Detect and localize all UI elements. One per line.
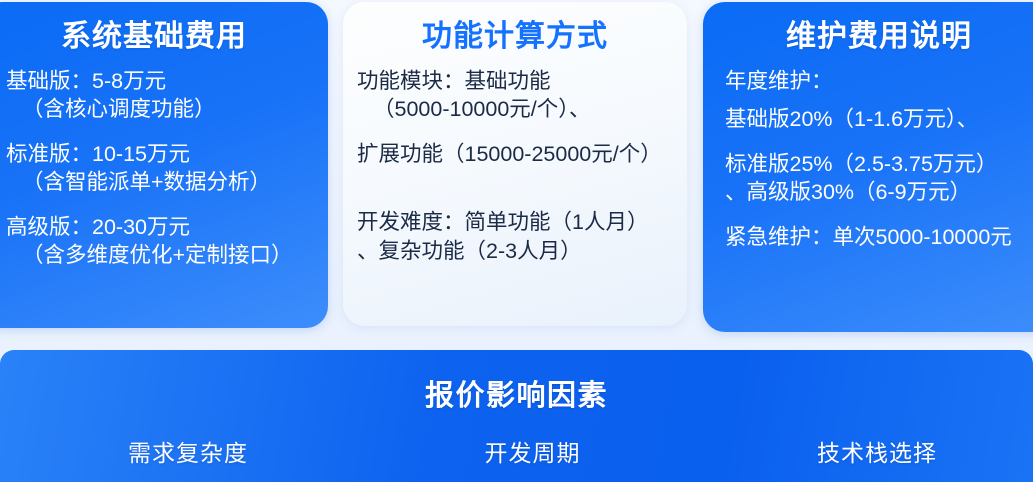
- card-paragraph: 紧急维护：单次5000-10000元: [725, 223, 1033, 251]
- paragraph-continuation: 、高级版30%（6-9万元）: [725, 178, 1033, 206]
- card-paragraph: 标准版25%（2.5-3.75万元） 、高级版30%（6-9万元）: [725, 150, 1033, 207]
- card-body: 年度维护： 基础版20%（1-1.6万元）、 标准版25%（2.5-3.75万元…: [703, 67, 1033, 251]
- card-body: 基础版：5-8万元 （含核心调度功能） 标准版：10-15万元 （含智能派单+数…: [0, 67, 328, 269]
- card-paragraph: 扩展功能（15000-25000元/个）: [357, 140, 681, 168]
- paragraph-lead: 高级版：20-30万元: [6, 215, 190, 239]
- card-paragraph: 年度维护：: [725, 67, 1033, 95]
- paragraph-lead: 标准版25%（2.5-3.75万元）: [725, 152, 997, 176]
- card-title: 维护费用说明: [703, 20, 1033, 53]
- paragraph-lead: 开发难度：简单功能（1人月）: [357, 210, 648, 234]
- factor-item[interactable]: 技术栈选择: [667, 434, 973, 468]
- factor-item[interactable]: 开发周期: [398, 434, 668, 468]
- card-body: 功能模块：基础功能 （5000-10000元/个）、 扩展功能（15000-25…: [343, 67, 687, 265]
- paragraph-continuation: 、复杂功能（2-3人月）: [357, 237, 681, 265]
- paragraph-continuation: （含核心调度功能）: [6, 95, 322, 123]
- paragraph-lead: 基础版：5-8万元: [6, 69, 166, 93]
- factors-list: 需求复杂度 开发周期 技术栈选择: [0, 434, 1033, 468]
- banner-title: 报价影响因素: [0, 372, 1033, 414]
- factor-item[interactable]: 需求复杂度: [60, 434, 398, 468]
- card-maintenance-cost[interactable]: 维护费用说明 年度维护： 基础版20%（1-1.6万元）、 标准版25%（2.5…: [703, 2, 1033, 332]
- paragraph-lead: 标准版：10-15万元: [6, 142, 190, 166]
- card-paragraph: 开发难度：简单功能（1人月） 、复杂功能（2-3人月）: [357, 208, 681, 265]
- card-paragraph: 标准版：10-15万元 （含智能派单+数据分析）: [6, 140, 322, 197]
- card-system-base-cost[interactable]: 系统基础费用 基础版：5-8万元 （含核心调度功能） 标准版：10-15万元 （…: [0, 2, 328, 328]
- card-paragraph: 功能模块：基础功能 （5000-10000元/个）、: [357, 67, 681, 124]
- card-title: 功能计算方式: [343, 20, 687, 53]
- card-function-calculation[interactable]: 功能计算方式 功能模块：基础功能 （5000-10000元/个）、 扩展功能（1…: [343, 2, 687, 326]
- paragraph-continuation: （含智能派单+数据分析）: [6, 168, 322, 196]
- paragraph-lead: 紧急维护：单次5000-10000元: [725, 225, 1012, 249]
- card-paragraph: 高级版：20-30万元 （含多维度优化+定制接口）: [6, 213, 322, 270]
- quote-factors-banner: 报价影响因素 需求复杂度 开发周期 技术栈选择: [0, 350, 1033, 482]
- cards-row: 系统基础费用 基础版：5-8万元 （含核心调度功能） 标准版：10-15万元 （…: [0, 0, 1033, 340]
- card-paragraph: 基础版：5-8万元 （含核心调度功能）: [6, 67, 322, 124]
- paragraph-lead: 功能模块：基础功能: [357, 69, 551, 93]
- paragraph-lead: 基础版20%（1-1.6万元）、: [725, 107, 978, 131]
- paragraph-lead: 扩展功能（15000-25000元/个）: [357, 142, 662, 166]
- paragraph-lead: 年度维护：: [725, 69, 833, 93]
- card-title: 系统基础费用: [0, 20, 328, 53]
- paragraph-continuation: （5000-10000元/个）、: [357, 95, 681, 123]
- card-paragraph: 基础版20%（1-1.6万元）、: [725, 105, 1033, 133]
- paragraph-continuation: （含多维度优化+定制接口）: [6, 241, 322, 269]
